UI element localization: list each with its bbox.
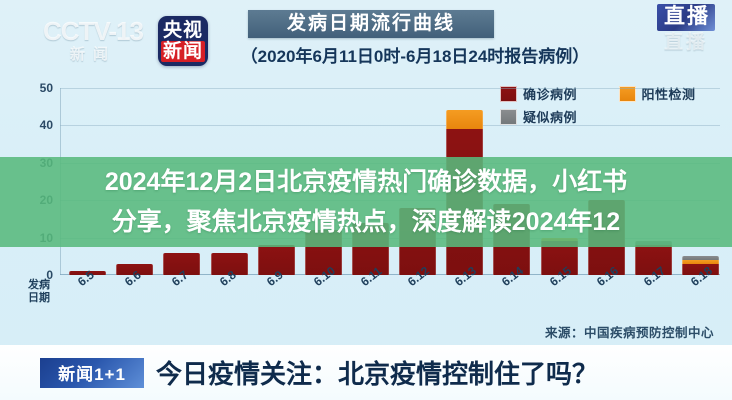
y-axis-tick-label: 50 — [40, 81, 53, 95]
chart-title: 发病日期流行曲线 — [248, 10, 494, 38]
live-badge-label: 直播 — [657, 4, 715, 31]
screenshot-root: CCTV-13 新闻 央视 新闻 发病日期流行曲线 （2020年6月11日0时-… — [0, 0, 732, 400]
cctv-news-logo: 央视 新闻 — [158, 16, 208, 66]
cctv-news-logo-line1: 央视 — [163, 20, 203, 41]
source-note: 来源：中国疾病预防控制中心 — [545, 322, 714, 341]
cctv13-watermark-sub: 新闻 — [34, 46, 152, 64]
bottom-banner: 新闻1+1 今日疫情关注：北京疫情控制住了吗？ — [0, 345, 732, 400]
caption-overlay: 2024年12月2日北京疫情热门确诊数据，小红书 分享，聚焦北京疫情热点，深度解… — [0, 157, 732, 247]
x-axis-label-line1: 发病 — [22, 279, 56, 292]
cctv13-watermark-main: CCTV-13 — [43, 16, 143, 46]
y-axis-tick-label: 40 — [40, 118, 53, 132]
chart-subtitle: （2020年6月11日0时-6月18日24时报告病例） — [205, 42, 625, 67]
live-badge-ghost: 直播 — [664, 32, 708, 54]
bar-segment-positive — [446, 110, 483, 129]
caption-line-2: 分享，聚焦北京疫情热点，深度解读2024年12 — [112, 202, 620, 242]
cctv-news-logo-line2: 新闻 — [161, 41, 205, 62]
x-axis-label: 发病日期 — [22, 279, 56, 305]
x-axis-label-line2: 日期 — [22, 292, 56, 305]
cctv13-watermark: CCTV-13 新闻 — [34, 16, 152, 68]
news-1plus1-logo: 新闻1+1 — [40, 358, 144, 388]
bottom-banner-headline: 今日疫情关注：北京疫情控制住了吗？ — [156, 354, 598, 391]
live-badge: 直播 直播 — [648, 4, 724, 62]
caption-line-1: 2024年12月2日北京疫情热门确诊数据，小红书 — [105, 162, 627, 202]
